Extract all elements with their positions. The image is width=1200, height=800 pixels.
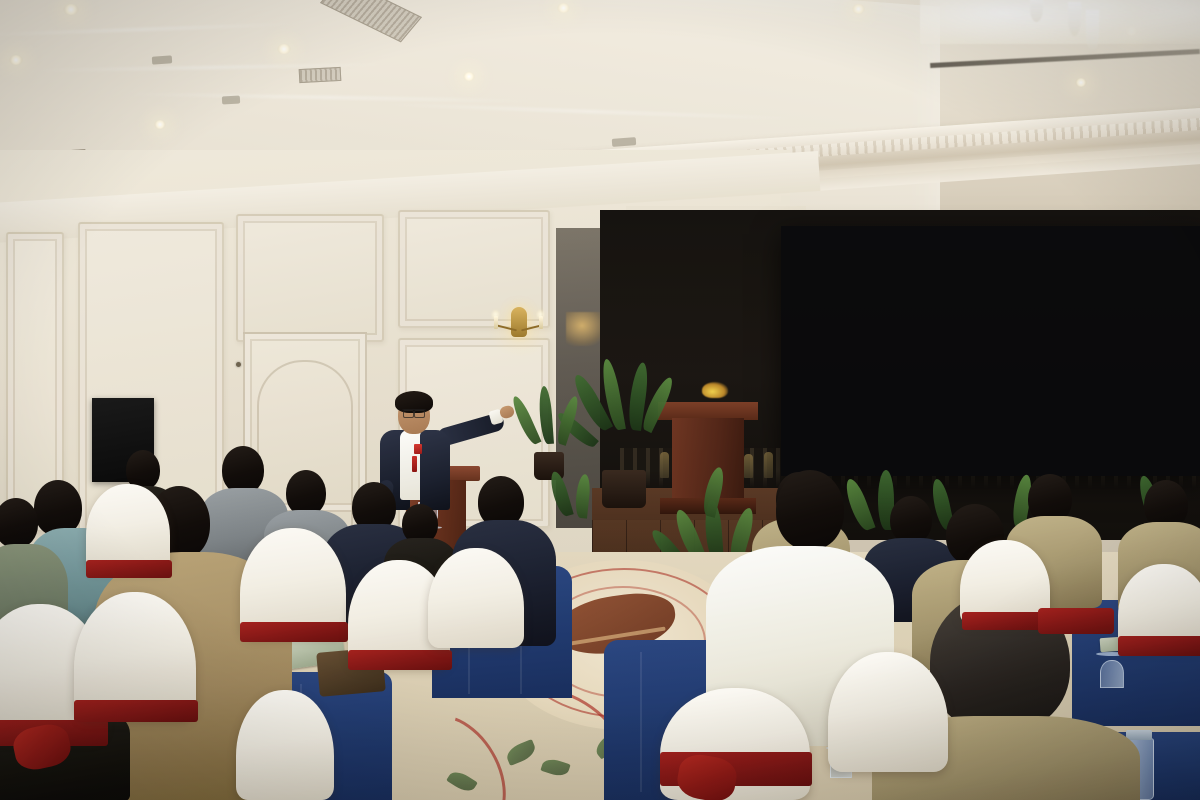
decorative-statue	[764, 452, 773, 478]
chair-sash	[86, 560, 172, 578]
ceiling-air-vent	[299, 67, 342, 83]
ceiling-fixture	[222, 96, 240, 105]
ceiling-downlight	[63, 4, 79, 15]
presenter-eyeglasses	[401, 409, 427, 416]
decorative-statue	[744, 454, 753, 478]
conference-photo-scene: ១. ព័ត៌មានទូទៅ មូលនិធិអាកាសធាតុបៃតង Gree…	[0, 0, 1200, 800]
decorative-statue	[660, 452, 669, 478]
chandelier-drop	[1068, 2, 1081, 36]
presenter-name-badge	[414, 444, 422, 454]
chair-sash	[962, 612, 1050, 630]
chair-sash	[1038, 608, 1114, 634]
ceiling-downlight	[852, 4, 865, 14]
water-glass-inverted	[1100, 660, 1124, 688]
podium-flower-arrangement	[702, 382, 728, 398]
presenter-jacket-right	[420, 430, 450, 510]
attendee-head	[0, 498, 38, 548]
door-knob[interactable]	[236, 362, 241, 367]
chair-sash	[1118, 636, 1200, 656]
ceiling-track-rail	[930, 49, 1200, 68]
chandelier-drop	[1086, 10, 1099, 54]
ceiling-downlight	[154, 120, 166, 129]
crystal-chandelier	[920, 0, 1200, 44]
ceiling-downlight	[1075, 78, 1087, 87]
ceiling-fixture	[152, 55, 173, 64]
wall-panel	[236, 214, 384, 342]
ceiling-downlight	[9, 55, 23, 65]
projection-screen-frame: ១. ព័ត៌មានទូទៅ មូលនិធិអាកាសធាតុបៃតង Gree…	[781, 226, 1200, 476]
ceiling-downlight	[557, 3, 570, 13]
ceiling-downlight	[277, 44, 291, 54]
chair-sash	[240, 622, 348, 642]
attendee-head	[890, 496, 932, 544]
attendee-head	[222, 446, 264, 494]
plant-pot	[602, 470, 646, 508]
presenter-ribbon	[412, 456, 417, 472]
attendee-head	[776, 470, 844, 550]
tablecloth-fold	[640, 652, 642, 792]
ceiling-fixture	[612, 137, 636, 147]
wall-sconce	[511, 307, 527, 337]
chandelier-drop	[1030, 0, 1043, 22]
ceiling-downlight	[463, 72, 475, 81]
sconce-flame	[492, 310, 499, 319]
sconce-flame	[537, 310, 544, 319]
bottle-cap	[1126, 730, 1152, 740]
chair-sash	[348, 650, 452, 670]
chair-sash	[74, 700, 198, 722]
